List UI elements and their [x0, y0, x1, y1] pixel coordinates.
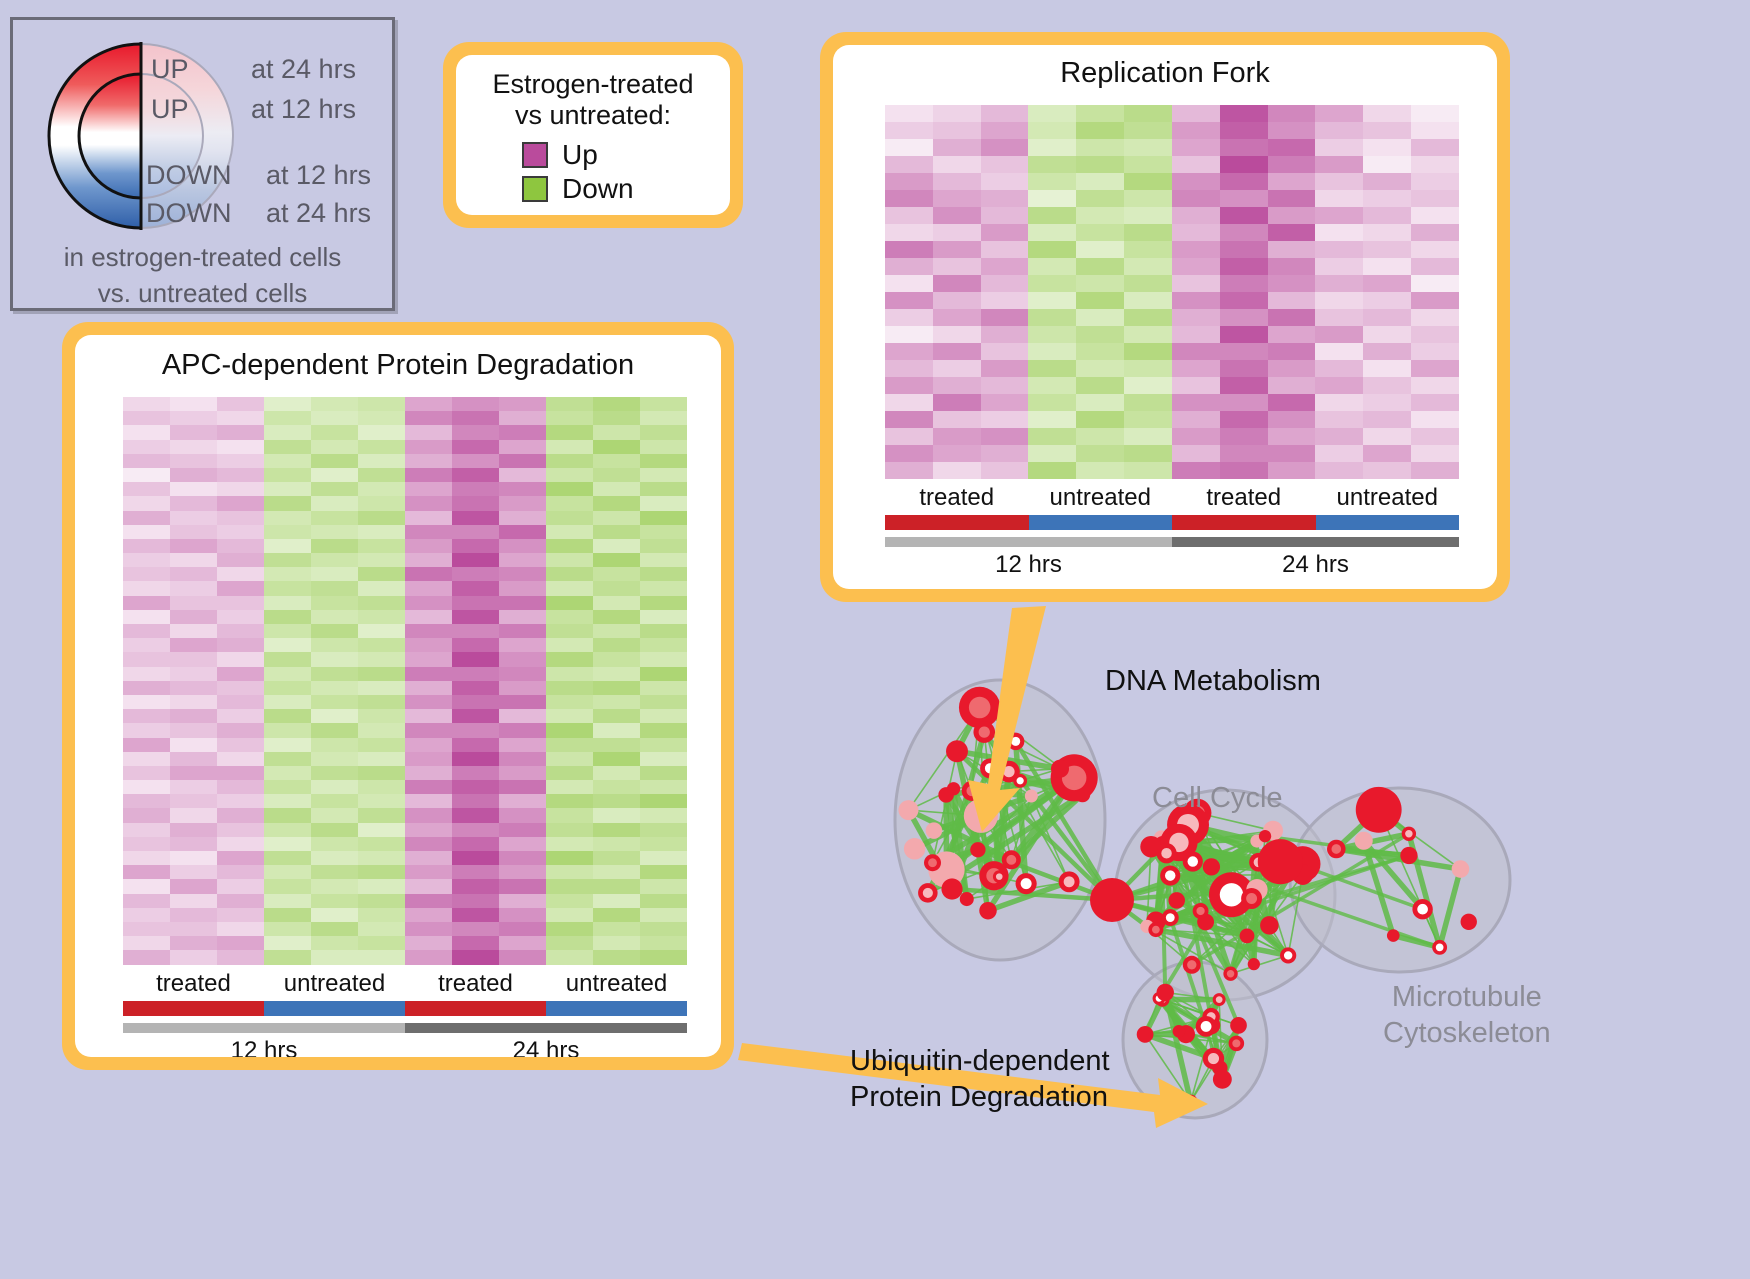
heatmap-cell [217, 766, 264, 780]
heatmap-cell [264, 922, 311, 936]
heatmap-cell [1363, 122, 1411, 139]
heatmap-cell [1076, 275, 1124, 292]
time-bar-segment [405, 1023, 687, 1033]
heatmap-cell [123, 808, 170, 822]
heatmap-cell [1315, 207, 1363, 224]
heatmap-cell [170, 780, 217, 794]
heatmap-cell [311, 936, 358, 950]
heatmap-cell [358, 894, 405, 908]
heatmap-cell [452, 397, 499, 411]
heatmap-cell [499, 581, 546, 595]
heatmap-cell [640, 567, 687, 581]
heatmap-cell [1411, 411, 1459, 428]
heatmap-cell [1220, 173, 1268, 190]
updown-legend-panel: Estrogen-treated vs untreated: Up Down [443, 42, 743, 228]
heatmap-cell [640, 553, 687, 567]
replication-fork-condition-bar [885, 515, 1459, 530]
heatmap-cell [311, 638, 358, 652]
heatmap-cell [311, 496, 358, 510]
heatmap-cell [1315, 394, 1363, 411]
heatmap-cell [358, 411, 405, 425]
heatmap-cell [452, 667, 499, 681]
heatmap-cell [1124, 275, 1172, 292]
heatmap-cell [981, 156, 1029, 173]
heatmap-cell [217, 425, 264, 439]
heatmap-cell [499, 879, 546, 893]
heatmap-cell [452, 624, 499, 638]
heatmap-cell [123, 695, 170, 709]
heatmap-cell [1124, 173, 1172, 190]
heatmap-cell [546, 667, 593, 681]
heatmap-cell [981, 462, 1029, 479]
legend-label-up: Up [562, 139, 598, 171]
heatmap-cell [123, 894, 170, 908]
heatmap-cell [1172, 190, 1220, 207]
heatmap-cell [1363, 173, 1411, 190]
heatmap-cell [1363, 156, 1411, 173]
heatmap-cell [217, 596, 264, 610]
heatmap-cell [1028, 207, 1076, 224]
heatmap-cell [885, 360, 933, 377]
heatmap-cell [405, 922, 452, 936]
heatmap-cell [358, 638, 405, 652]
heatmap-cell [358, 425, 405, 439]
heatmap-cell [981, 139, 1029, 156]
heatmap-cell [405, 652, 452, 666]
heatmap-cell [1268, 411, 1316, 428]
heatmap-cell [1172, 326, 1220, 343]
condition-bar-segment [1172, 515, 1316, 530]
condition-bar-segment [1029, 515, 1173, 530]
heatmap-cell [311, 440, 358, 454]
heatmap-cell [358, 752, 405, 766]
heatmap-cell [593, 667, 640, 681]
heatmap-cell [358, 397, 405, 411]
heatmap-cell [264, 553, 311, 567]
heatmap-cell [546, 936, 593, 950]
heatmap-column-label: untreated [264, 970, 405, 998]
heatmap-cell [546, 837, 593, 851]
cluster-label-cell-cycle: Cell Cycle [1152, 782, 1283, 815]
heatmap-cell [452, 610, 499, 624]
heatmap-cell [405, 865, 452, 879]
heatmap-cell [1411, 105, 1459, 122]
heatmap-cell [1076, 258, 1124, 275]
heatmap-cell [1268, 343, 1316, 360]
heatmap-cell [593, 638, 640, 652]
heatmap-column-label: untreated [1316, 484, 1460, 512]
heatmap-cell [1220, 326, 1268, 343]
heatmap-cell [405, 468, 452, 482]
heatmap-cell [546, 567, 593, 581]
heatmap-cell [640, 851, 687, 865]
heatmap-cell [593, 468, 640, 482]
heatmap-cell [1363, 326, 1411, 343]
heatmap-cell [1076, 292, 1124, 309]
heatmap-cell [593, 738, 640, 752]
heatmap-cell [640, 667, 687, 681]
heatmap-cell [981, 241, 1029, 258]
heatmap-cell [1411, 275, 1459, 292]
heatmap-cell [593, 624, 640, 638]
heatmap-cell [123, 936, 170, 950]
heatmap-cell [1363, 343, 1411, 360]
heatmap-cell [1268, 360, 1316, 377]
heatmap-cell [123, 425, 170, 439]
heatmap-cell [358, 936, 405, 950]
heatmap-cell [170, 894, 217, 908]
heatmap-cell [1124, 292, 1172, 309]
heatmap-cell [170, 496, 217, 510]
heatmap-cell [405, 397, 452, 411]
heatmap-cell [311, 624, 358, 638]
heatmap-cell [933, 377, 981, 394]
heatmap-cell [264, 837, 311, 851]
heatmap-cell [452, 752, 499, 766]
heatmap-cell [405, 638, 452, 652]
heatmap-cell [358, 738, 405, 752]
key-label-down-24: DOWN [146, 198, 231, 229]
heatmap-cell [499, 865, 546, 879]
heatmap-cell [264, 808, 311, 822]
heatmap-cell [358, 851, 405, 865]
heatmap-cell [123, 922, 170, 936]
heatmap-cell [499, 908, 546, 922]
heatmap-cell [358, 667, 405, 681]
heatmap-cell [546, 752, 593, 766]
heatmap-cell [1028, 309, 1076, 326]
heatmap-cell [640, 723, 687, 737]
heatmap-cell [1172, 105, 1220, 122]
heatmap-cell [1028, 394, 1076, 411]
heatmap-cell [405, 908, 452, 922]
heatmap-cell [499, 468, 546, 482]
heatmap-cell [405, 879, 452, 893]
heatmap-cell [1172, 428, 1220, 445]
key-time-down-24: at 24 hrs [266, 198, 371, 229]
heatmap-cell [499, 596, 546, 610]
heatmap-cell [1220, 292, 1268, 309]
heatmap-cell [264, 766, 311, 780]
heatmap-cell [1268, 207, 1316, 224]
heatmap-cell [933, 105, 981, 122]
heatmap-cell [981, 224, 1029, 241]
heatmap-cell [593, 397, 640, 411]
heatmap-cell [1172, 394, 1220, 411]
heatmap-cell [1315, 139, 1363, 156]
heatmap-cell [499, 667, 546, 681]
heatmap-cell [1028, 462, 1076, 479]
heatmap-cell [358, 511, 405, 525]
heatmap-cell [170, 567, 217, 581]
heatmap-cell [1172, 462, 1220, 479]
heatmap-cell [1076, 190, 1124, 207]
heatmap-cell [405, 624, 452, 638]
heatmap-cell [1172, 411, 1220, 428]
heatmap-cell [593, 936, 640, 950]
heatmap-cell [452, 936, 499, 950]
heatmap-cell [546, 723, 593, 737]
heatmap-cell [358, 440, 405, 454]
heatmap-cell [933, 139, 981, 156]
heatmap-cell [981, 394, 1029, 411]
heatmap-cell [981, 190, 1029, 207]
heatmap-cell [640, 425, 687, 439]
heatmap-cell [1124, 139, 1172, 156]
heatmap-cell [264, 695, 311, 709]
heatmap-cell [452, 440, 499, 454]
heatmap-cell [1028, 190, 1076, 207]
heatmap-column-label: untreated [1029, 484, 1173, 512]
heatmap-cell [1315, 275, 1363, 292]
heatmap-cell [170, 723, 217, 737]
heatmap-column-label: untreated [546, 970, 687, 998]
heatmap-cell [593, 411, 640, 425]
heatmap-cell [405, 709, 452, 723]
heatmap-cell [123, 553, 170, 567]
heatmap-cell [981, 343, 1029, 360]
heatmap-cell [1268, 462, 1316, 479]
heatmap-cell [933, 462, 981, 479]
apc-column-labels: treateduntreatedtreateduntreated [123, 970, 687, 998]
cluster-label-dna-metabolism: DNA Metabolism [1105, 665, 1321, 698]
heatmap-cell [1315, 292, 1363, 309]
heatmap-cell [405, 596, 452, 610]
heatmap-cell [933, 411, 981, 428]
heatmap-cell [217, 879, 264, 893]
heatmap-cell [311, 780, 358, 794]
heatmap-cell [1220, 343, 1268, 360]
legend-label-down: Down [562, 173, 634, 205]
heatmap-cell [1268, 258, 1316, 275]
heatmap-cell [311, 610, 358, 624]
heatmap-cell [1076, 428, 1124, 445]
heatmap-cell [1124, 326, 1172, 343]
heatmap-cell [640, 950, 687, 964]
key-time-down-12: at 12 hrs [266, 160, 371, 191]
heatmap-cell [123, 837, 170, 851]
heatmap-cell [981, 377, 1029, 394]
heatmap-cell [1268, 190, 1316, 207]
heatmap-cell [981, 360, 1029, 377]
heatmap-cell [1172, 309, 1220, 326]
heatmap-cell [311, 922, 358, 936]
heatmap-cell [499, 411, 546, 425]
heatmap-cell [405, 667, 452, 681]
heatmap-cell [593, 539, 640, 553]
heatmap-cell [640, 894, 687, 908]
heatmap-cell [358, 496, 405, 510]
heatmap-cell [1220, 462, 1268, 479]
heatmap-cell [546, 539, 593, 553]
heatmap-cell [593, 908, 640, 922]
heatmap-cell [311, 425, 358, 439]
heatmap-cell [1076, 122, 1124, 139]
heatmap-cell [170, 865, 217, 879]
heatmap-cell [405, 440, 452, 454]
heatmap-cell [452, 496, 499, 510]
heatmap-cell [264, 908, 311, 922]
heatmap-cell [1315, 122, 1363, 139]
heatmap-cell [1411, 343, 1459, 360]
heatmap-cell [123, 610, 170, 624]
heatmap-cell [1124, 360, 1172, 377]
heatmap-cell [546, 610, 593, 624]
heatmap-cell [264, 511, 311, 525]
heatmap-cell [1363, 241, 1411, 258]
heatmap-cell [640, 766, 687, 780]
heatmap-cell [1268, 105, 1316, 122]
heatmap-cell [264, 397, 311, 411]
heatmap-cell [546, 879, 593, 893]
heatmap-cell [170, 539, 217, 553]
heatmap-cell [358, 567, 405, 581]
heatmap-cell [1363, 275, 1411, 292]
heatmap-cell [1411, 445, 1459, 462]
heatmap-cell [499, 610, 546, 624]
heatmap-cell [640, 397, 687, 411]
heatmap-cell [311, 411, 358, 425]
expression-key-box: UP at 24 hrs UP at 12 hrs DOWN at 12 hrs… [10, 17, 395, 311]
heatmap-cell [1124, 207, 1172, 224]
heatmap-cell [640, 681, 687, 695]
heatmap-cell [933, 309, 981, 326]
heatmap-cell [640, 738, 687, 752]
heatmap-cell [311, 808, 358, 822]
heatmap-cell [264, 667, 311, 681]
heatmap-cell [593, 780, 640, 794]
heatmap-cell [170, 709, 217, 723]
heatmap-cell [885, 462, 933, 479]
heatmap-cell [1220, 411, 1268, 428]
heatmap-cell [885, 105, 933, 122]
heatmap-cell [452, 950, 499, 964]
heatmap-cell [358, 454, 405, 468]
heatmap-cell [885, 156, 933, 173]
heatmap-cell [640, 837, 687, 851]
heatmap-cell [217, 837, 264, 851]
heatmap-cell [885, 343, 933, 360]
heatmap-cell [452, 738, 499, 752]
heatmap-cell [217, 638, 264, 652]
heatmap-cell [311, 766, 358, 780]
heatmap-cell [885, 275, 933, 292]
heatmap-cell [1124, 428, 1172, 445]
heatmap-cell [405, 553, 452, 567]
heatmap-cell [981, 105, 1029, 122]
heatmap-cell [123, 525, 170, 539]
heatmap-cell [217, 397, 264, 411]
heatmap-cell [123, 794, 170, 808]
heatmap-column-label: treated [1172, 484, 1316, 512]
heatmap-cell [217, 808, 264, 822]
heatmap-cell [311, 851, 358, 865]
heatmap-cell [499, 851, 546, 865]
heatmap-cell [1220, 275, 1268, 292]
heatmap-cell [264, 468, 311, 482]
heatmap-cell [1076, 139, 1124, 156]
heatmap-cell [170, 752, 217, 766]
heatmap-cell [217, 511, 264, 525]
heatmap-cell [311, 567, 358, 581]
heatmap-cell [1411, 326, 1459, 343]
heatmap-cell [1076, 360, 1124, 377]
heatmap-cell [593, 922, 640, 936]
heatmap-cell [1220, 224, 1268, 241]
heatmap-cell [546, 738, 593, 752]
heatmap-cell [1315, 428, 1363, 445]
heatmap-cell [546, 511, 593, 525]
heatmap-cell [217, 652, 264, 666]
heatmap-cell [499, 496, 546, 510]
heatmap-cell [1315, 241, 1363, 258]
heatmap-cell [593, 596, 640, 610]
heatmap-cell [170, 425, 217, 439]
heatmap-cell [593, 482, 640, 496]
heatmap-cell [1411, 190, 1459, 207]
heatmap-cell [170, 922, 217, 936]
key-footer-line-2: vs. untreated cells [13, 278, 392, 309]
heatmap-cell [311, 454, 358, 468]
heatmap-cell [405, 837, 452, 851]
heatmap-cell [170, 766, 217, 780]
heatmap-cell [358, 624, 405, 638]
heatmap-cell [546, 950, 593, 964]
heatmap-cell [170, 581, 217, 595]
key-time-up-12: at 12 hrs [251, 94, 356, 125]
heatmap-cell [170, 411, 217, 425]
heatmap-cell [311, 950, 358, 964]
key-time-up-24: at 24 hrs [251, 54, 356, 85]
heatmap-cell [170, 454, 217, 468]
heatmap-cell [170, 908, 217, 922]
heatmap-cell [499, 511, 546, 525]
heatmap-cell [123, 581, 170, 595]
heatmap-cell [264, 411, 311, 425]
heatmap-cell [1315, 173, 1363, 190]
heatmap-cell [123, 879, 170, 893]
heatmap-cell [593, 851, 640, 865]
heatmap-cell [452, 723, 499, 737]
heatmap-cell [1028, 275, 1076, 292]
heatmap-cell [499, 837, 546, 851]
heatmap-cell [546, 596, 593, 610]
heatmap-cell [358, 865, 405, 879]
heatmap-cell [593, 525, 640, 539]
heatmap-cell [358, 539, 405, 553]
heatmap-cell [1028, 224, 1076, 241]
heatmap-cell [1028, 411, 1076, 428]
heatmap-cell [640, 922, 687, 936]
heatmap-cell [123, 638, 170, 652]
heatmap-cell [1268, 139, 1316, 156]
heatmap-cell [933, 360, 981, 377]
heatmap-cell [405, 482, 452, 496]
heatmap-cell [170, 667, 217, 681]
heatmap-cell [1220, 207, 1268, 224]
heatmap-cell [1028, 326, 1076, 343]
heatmap-cell [311, 681, 358, 695]
heatmap-cell [981, 292, 1029, 309]
heatmap-cell [1411, 292, 1459, 309]
replication-fork-title: Replication Fork [833, 57, 1497, 90]
heatmap-cell [452, 468, 499, 482]
heatmap-cell [499, 950, 546, 964]
heatmap-cell [264, 454, 311, 468]
cluster-label-microtubule: Microtubule [1383, 979, 1551, 1015]
heatmap-cell [1315, 445, 1363, 462]
heatmap-cell [1315, 190, 1363, 207]
